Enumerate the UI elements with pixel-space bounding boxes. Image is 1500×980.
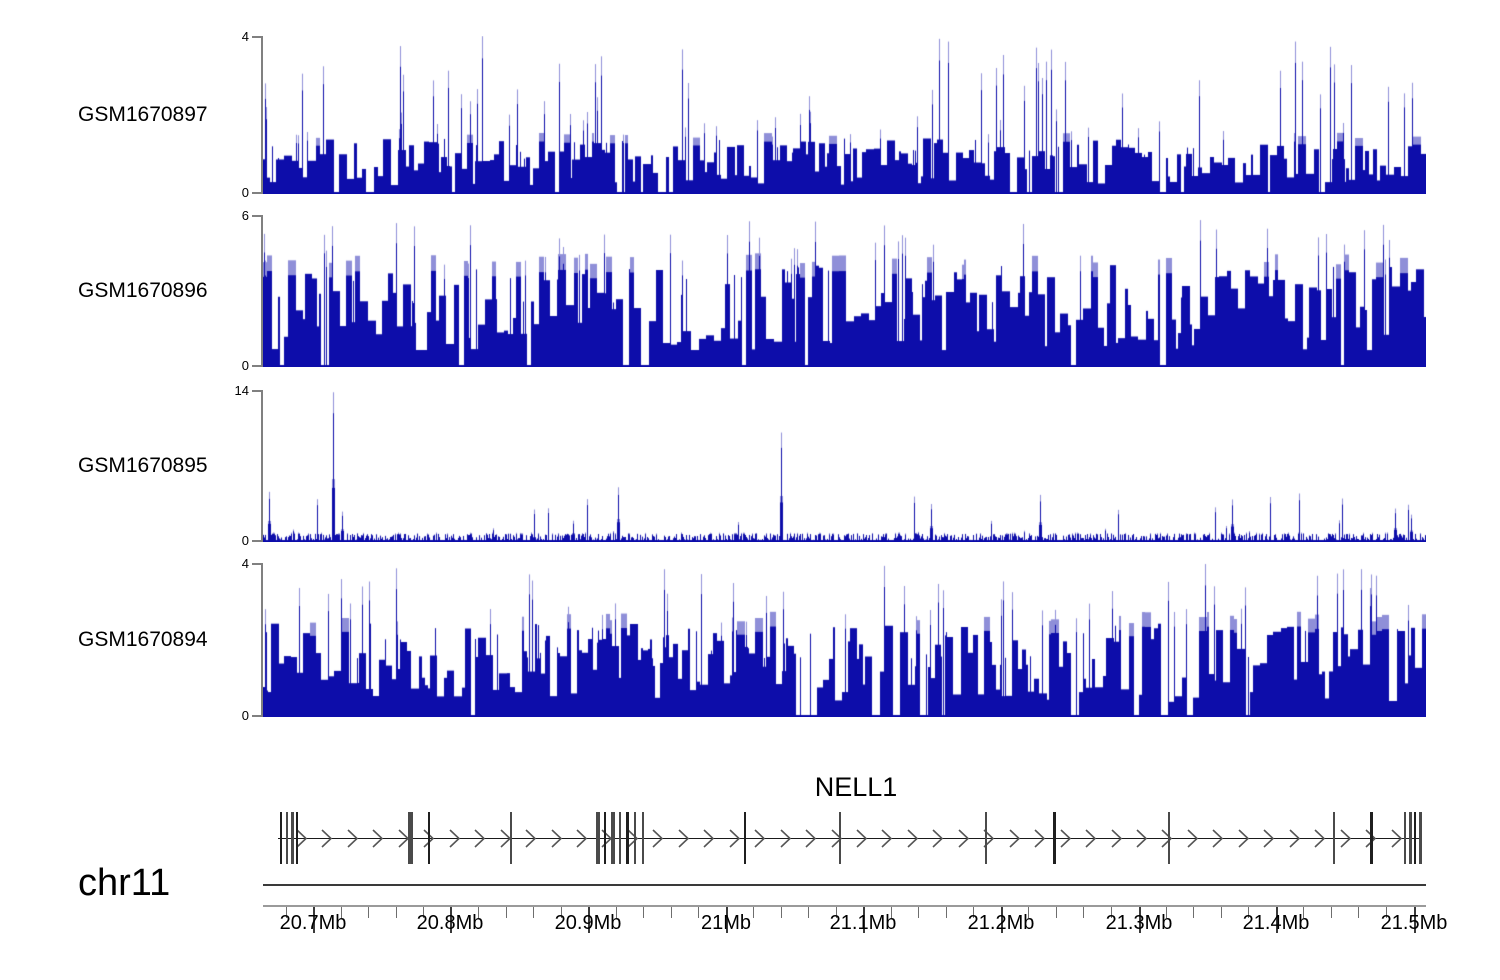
axis-tick-label: 21.2Mb bbox=[941, 912, 1061, 935]
strand-arrow-icon bbox=[678, 829, 692, 849]
strand-arrow-icon bbox=[576, 829, 590, 849]
gene-exon bbox=[1168, 812, 1170, 864]
genome-browser-view: GSM167089740GSM167089660GSM1670895140GSM… bbox=[0, 0, 1500, 980]
gene-exon bbox=[596, 812, 600, 864]
gene-exon bbox=[1053, 812, 1056, 864]
strand-arrow-icon bbox=[805, 829, 819, 849]
gene-exon bbox=[1404, 812, 1406, 864]
gene-exon bbox=[280, 812, 282, 864]
strand-arrow-icon bbox=[296, 829, 310, 849]
gene-exon bbox=[1333, 812, 1335, 864]
gene-exon bbox=[1409, 812, 1412, 864]
strand-arrow-icon bbox=[423, 829, 437, 849]
strand-arrow-icon bbox=[831, 829, 845, 849]
strand-arrow-icon bbox=[525, 829, 539, 849]
strand-arrow-icon bbox=[932, 829, 946, 849]
strand-arrow-icon bbox=[551, 829, 565, 849]
gene-exon bbox=[626, 812, 629, 864]
strand-arrow-icon bbox=[1340, 829, 1354, 849]
gene-exon bbox=[428, 812, 430, 864]
strand-arrow-icon bbox=[958, 829, 972, 849]
gene-exon bbox=[619, 812, 621, 864]
strand-arrow-icon bbox=[1212, 829, 1226, 849]
strand-arrow-icon bbox=[372, 829, 386, 849]
gene-exon bbox=[611, 812, 615, 864]
strand-arrow-icon bbox=[347, 829, 361, 849]
strand-arrow-icon bbox=[1238, 829, 1252, 849]
strand-arrow-icon bbox=[1060, 829, 1074, 849]
axis-tick-label: 21Mb bbox=[666, 912, 786, 935]
strand-arrow-icon bbox=[881, 829, 895, 849]
axis-tick-label: 20.7Mb bbox=[253, 912, 373, 935]
gene-exon bbox=[510, 812, 512, 864]
gene-exon bbox=[985, 812, 987, 864]
genome-ruler-line bbox=[263, 884, 1426, 886]
gene-exon bbox=[296, 812, 298, 864]
gene-exon bbox=[634, 812, 636, 864]
strand-arrow-icon bbox=[1263, 829, 1277, 849]
axis-tick-label: 20.8Mb bbox=[390, 912, 510, 935]
gene-name-label: NELL1 bbox=[106, 772, 1500, 803]
strand-arrow-icon bbox=[1009, 829, 1023, 849]
strand-arrow-icon bbox=[1391, 829, 1405, 849]
strand-arrow-icon bbox=[754, 829, 768, 849]
strand-arrow-icon bbox=[1136, 829, 1150, 849]
coordinate-axis-line bbox=[263, 905, 1426, 907]
strand-arrow-icon bbox=[321, 829, 335, 849]
strand-arrow-icon bbox=[729, 829, 743, 849]
gene-exon bbox=[604, 812, 606, 864]
axis-tick-label: 21.5Mb bbox=[1354, 912, 1474, 935]
strand-arrow-icon bbox=[652, 829, 666, 849]
gene-annotation-track: NELL1 bbox=[0, 0, 1500, 980]
gene-exon bbox=[1370, 812, 1373, 864]
gene-exon bbox=[744, 812, 746, 864]
strand-arrow-icon bbox=[703, 829, 717, 849]
strand-arrow-icon bbox=[780, 829, 794, 849]
gene-exon bbox=[291, 812, 294, 864]
strand-arrow-icon bbox=[1187, 829, 1201, 849]
gene-exon bbox=[839, 812, 841, 864]
strand-arrow-icon bbox=[449, 829, 463, 849]
axis-tick-label: 20.9Mb bbox=[528, 912, 648, 935]
strand-arrow-icon bbox=[1289, 829, 1303, 849]
axis-tick-label: 21.1Mb bbox=[803, 912, 923, 935]
strand-arrow-icon bbox=[856, 829, 870, 849]
axis-tick-label: 21.4Mb bbox=[1216, 912, 1336, 935]
strand-arrow-icon bbox=[474, 829, 488, 849]
strand-arrow-icon bbox=[1314, 829, 1328, 849]
axis-tick-label: 21.3Mb bbox=[1079, 912, 1199, 935]
gene-exon bbox=[642, 812, 644, 864]
gene-exon bbox=[286, 812, 288, 864]
gene-exon bbox=[1419, 812, 1422, 864]
chromosome-label: chr11 bbox=[78, 862, 170, 905]
strand-arrow-icon bbox=[1034, 829, 1048, 849]
strand-arrow-icon bbox=[1085, 829, 1099, 849]
strand-arrow-icon bbox=[1111, 829, 1125, 849]
gene-exon bbox=[1414, 812, 1416, 864]
strand-arrow-icon bbox=[907, 829, 921, 849]
gene-exon bbox=[411, 812, 413, 864]
